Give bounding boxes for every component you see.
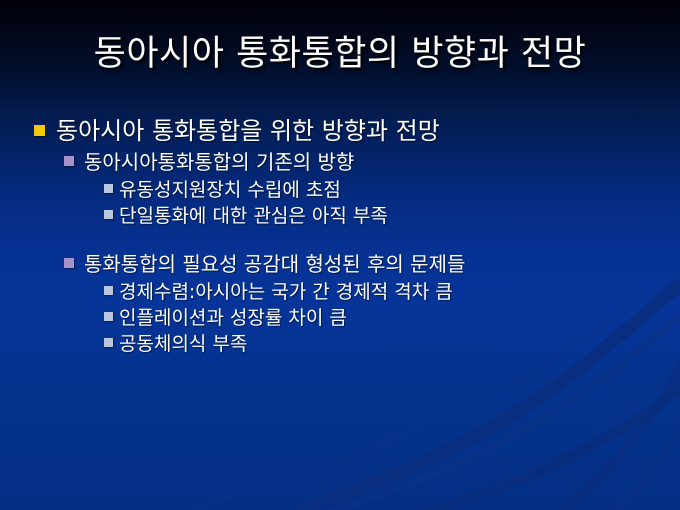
bullet-text: 동아시아 통화통합을 위한 방향과 전망 <box>56 116 440 147</box>
slide-body-content: 동아시아 통화통합을 위한 방향과 전망 동아시아통화통합의 기존의 방향 유동… <box>26 116 662 357</box>
bullet-line-level3: 인플레이션과 성장률 차이 큼 <box>26 305 662 331</box>
square-bullet-pale-blue-icon <box>104 286 113 295</box>
bullet-text: 공동체의식 부족 <box>119 331 247 357</box>
bullet-line-level3: 유동성지원장치 수립에 초점 <box>26 177 662 203</box>
bullet-text: 경제수렴:아시아는 국가 간 경제적 격차 큼 <box>119 279 453 305</box>
bullet-line-level3: 경제수렴:아시아는 국가 간 경제적 격차 큼 <box>26 279 662 305</box>
bullet-text: 동아시아통화통합의 기존의 방향 <box>84 149 354 176</box>
bullet-line-level2: 동아시아통화통합의 기존의 방향 <box>26 149 662 176</box>
square-bullet-purple-icon <box>64 258 74 268</box>
bullet-line-level3: 단일통화에 대한 관심은 아직 부족 <box>26 203 662 229</box>
paragraph-spacer <box>26 229 662 251</box>
slide-title: 동아시아 통화통합의 방향과 전망 <box>0 34 680 75</box>
bullet-line-level2: 통화통합의 필요성 공감대 형성된 후의 문제들 <box>26 251 662 278</box>
bullet-text: 인플레이션과 성장률 차이 큼 <box>119 305 347 331</box>
bullet-text: 유동성지원장치 수립에 초점 <box>119 177 341 203</box>
square-bullet-pale-blue-icon <box>104 210 113 219</box>
bullet-text: 단일통화에 대한 관심은 아직 부족 <box>119 203 388 229</box>
square-bullet-purple-icon <box>64 156 74 166</box>
square-bullet-pale-blue-icon <box>104 338 113 347</box>
bullet-text: 통화통합의 필요성 공감대 형성된 후의 문제들 <box>84 251 465 278</box>
presentation-slide: 동아시아 통화통합의 방향과 전망 동아시아 통화통합을 위한 방향과 전망 동… <box>0 0 680 510</box>
bullet-line-level3: 공동체의식 부족 <box>26 331 662 357</box>
square-bullet-gold-icon <box>34 125 45 136</box>
bullet-line-level1: 동아시아 통화통합을 위한 방향과 전망 <box>26 116 662 147</box>
square-bullet-pale-blue-icon <box>104 184 113 193</box>
square-bullet-pale-blue-icon <box>104 312 113 321</box>
